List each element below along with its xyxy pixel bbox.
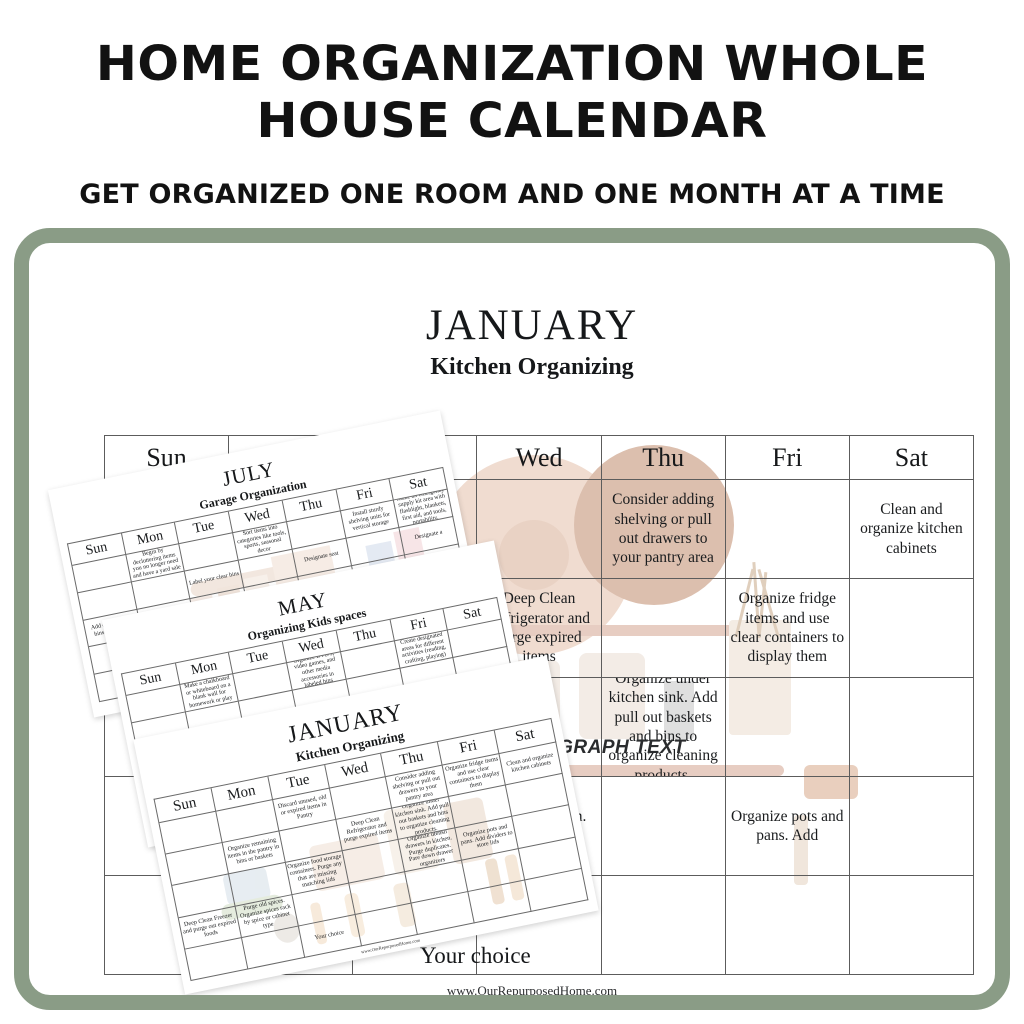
back-calendar-weekday-thu: Thu [602, 436, 726, 480]
back-calendar-day-cell[interactable] [602, 777, 726, 876]
back-calendar-subtitle: Kitchen Organizing [90, 350, 974, 381]
back-calendar-day-cell[interactable] [602, 579, 726, 678]
page-title: HOME ORGANIZATION WHOLE HOUSE CALENDAR [0, 0, 1024, 149]
page-subtitle: GET ORGANIZED ONE ROOM AND ONE MONTH AT … [0, 149, 1024, 210]
back-calendar-day-cell[interactable] [850, 579, 974, 678]
poster-canvas: HOME ORGANIZATION WHOLE HOUSE CALENDAR G… [0, 0, 1024, 1024]
back-calendar-day-cell[interactable]: Consider adding shelving or pull out dra… [602, 480, 726, 579]
back-calendar-weekday-wed: Wed [477, 436, 601, 480]
green-frame: JANUARY Kitchen Organizing [14, 228, 1010, 1010]
back-calendar-day-cell[interactable]: Clean and organize kitchen cabinets [850, 480, 974, 579]
back-calendar-day-cell[interactable] [850, 777, 974, 876]
page-title-line1: HOME ORGANIZATION WHOLE [0, 36, 1024, 93]
back-calendar-day-cell[interactable] [850, 678, 974, 777]
back-calendar-day-cell[interactable] [850, 876, 974, 975]
back-calendar-your-choice: Your choice [420, 943, 531, 969]
page-title-line2: HOUSE CALENDAR [0, 93, 1024, 150]
back-calendar-day-cell[interactable] [726, 480, 850, 579]
back-calendar-weekday-sat: Sat [850, 436, 974, 480]
back-calendar-day-cell[interactable] [602, 876, 726, 975]
back-calendar-day-cell[interactable]: Organize under kitchen sink. Add pull ou… [602, 678, 726, 777]
back-calendar-day-cell[interactable] [726, 876, 850, 975]
back-calendar-day-cell[interactable]: Organize pots and pans. Add [726, 777, 850, 876]
poster-header: HOME ORGANIZATION WHOLE HOUSE CALENDAR G… [0, 0, 1024, 210]
back-calendar-month: JANUARY [90, 283, 974, 350]
back-calendar-day-cell[interactable] [726, 678, 850, 777]
back-calendar-weekday-fri: Fri [726, 436, 850, 480]
back-calendar-day-cell[interactable]: Organize fridge items and use clear cont… [726, 579, 850, 678]
